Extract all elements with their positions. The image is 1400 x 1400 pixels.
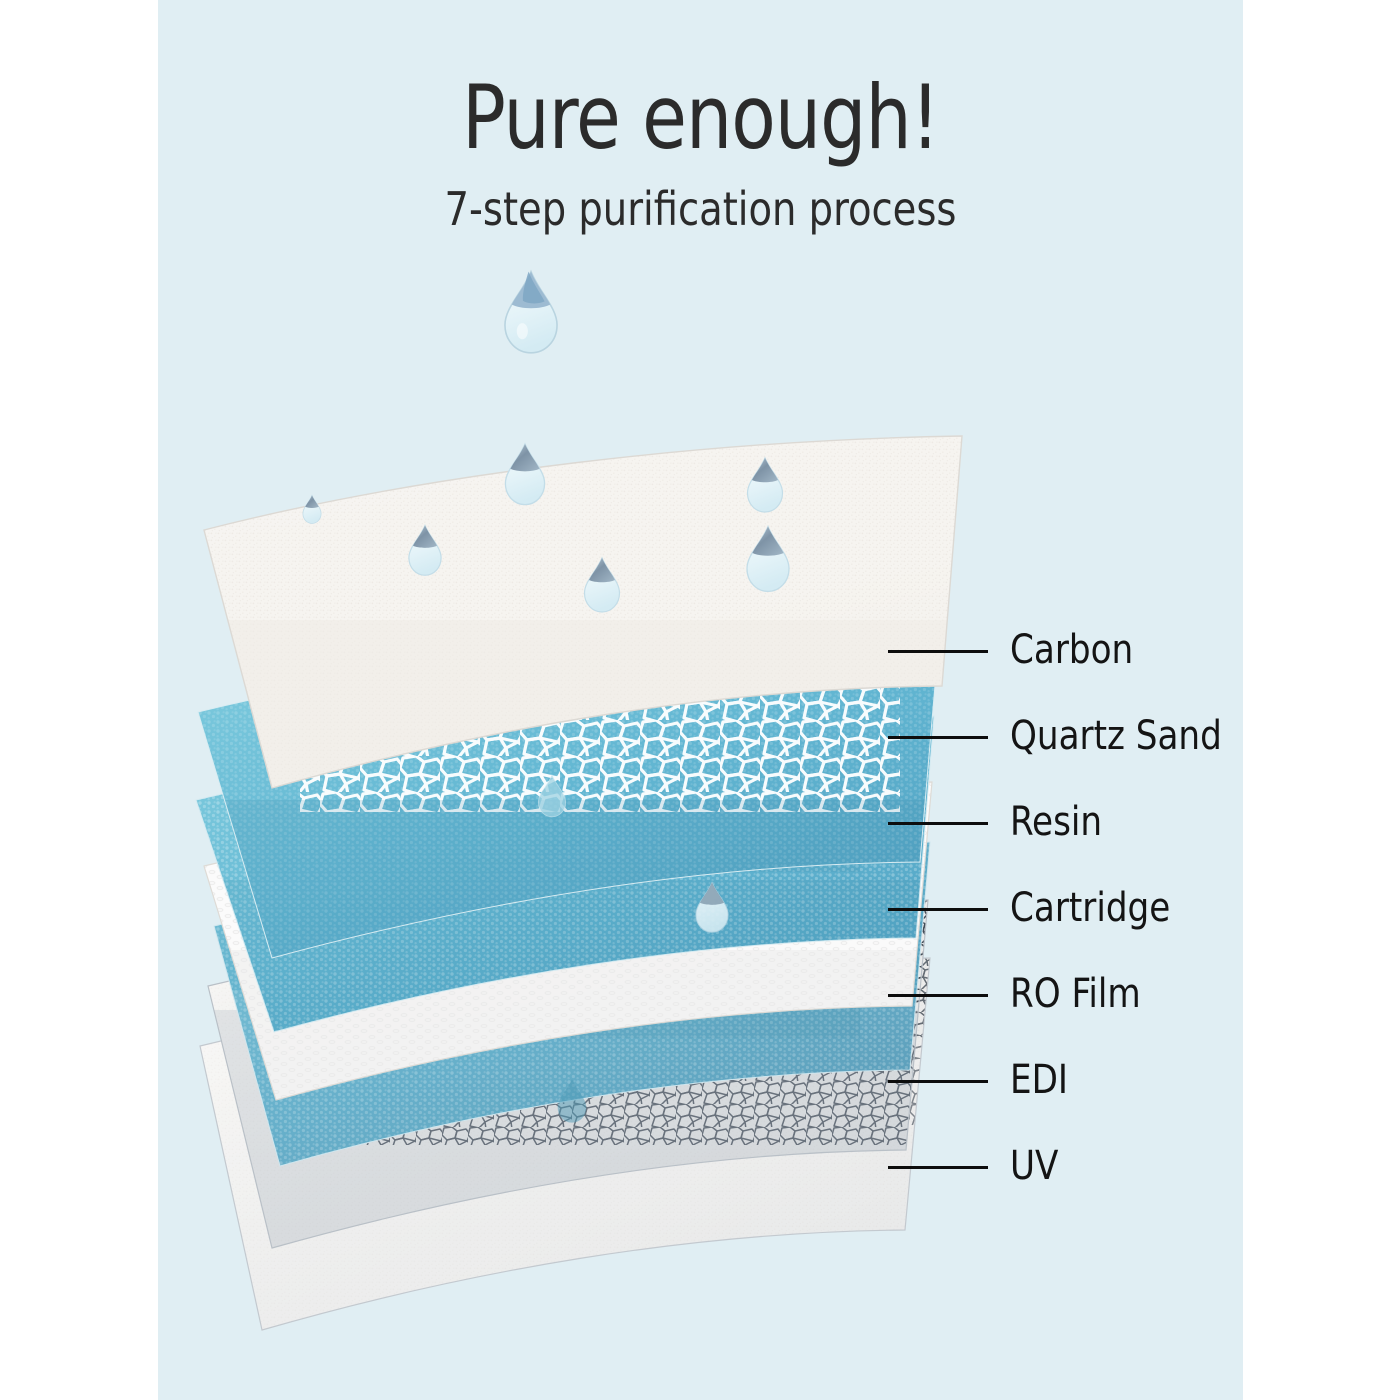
callout-label-resin: Resin bbox=[1010, 796, 1102, 848]
callout-label-carbon: Carbon bbox=[1010, 624, 1133, 676]
callout-label-quartz-sand: Quartz Sand bbox=[1010, 710, 1222, 762]
leader-line-icon bbox=[888, 1080, 988, 1083]
callout-label-cartridge: Cartridge bbox=[1010, 882, 1170, 934]
leader-line-icon bbox=[888, 736, 988, 739]
exploded-filter-illustration bbox=[0, 0, 1400, 1400]
callout-label-edi: EDI bbox=[1010, 1054, 1068, 1106]
falling-water-droplet-icon bbox=[505, 272, 557, 353]
leader-line-icon bbox=[888, 908, 988, 911]
water-droplet-icon bbox=[505, 444, 544, 504]
callout-label-ro-film: RO Film bbox=[1010, 968, 1141, 1020]
leader-line-icon bbox=[888, 822, 988, 825]
callout-label-uv: UV bbox=[1010, 1140, 1058, 1192]
water-droplet-icon bbox=[303, 495, 321, 523]
leader-line-icon bbox=[888, 994, 988, 997]
infographic-canvas: Pure enough! 7-step purification process bbox=[0, 0, 1400, 1400]
leader-line-icon bbox=[888, 1166, 988, 1169]
leader-line-icon bbox=[888, 650, 988, 653]
